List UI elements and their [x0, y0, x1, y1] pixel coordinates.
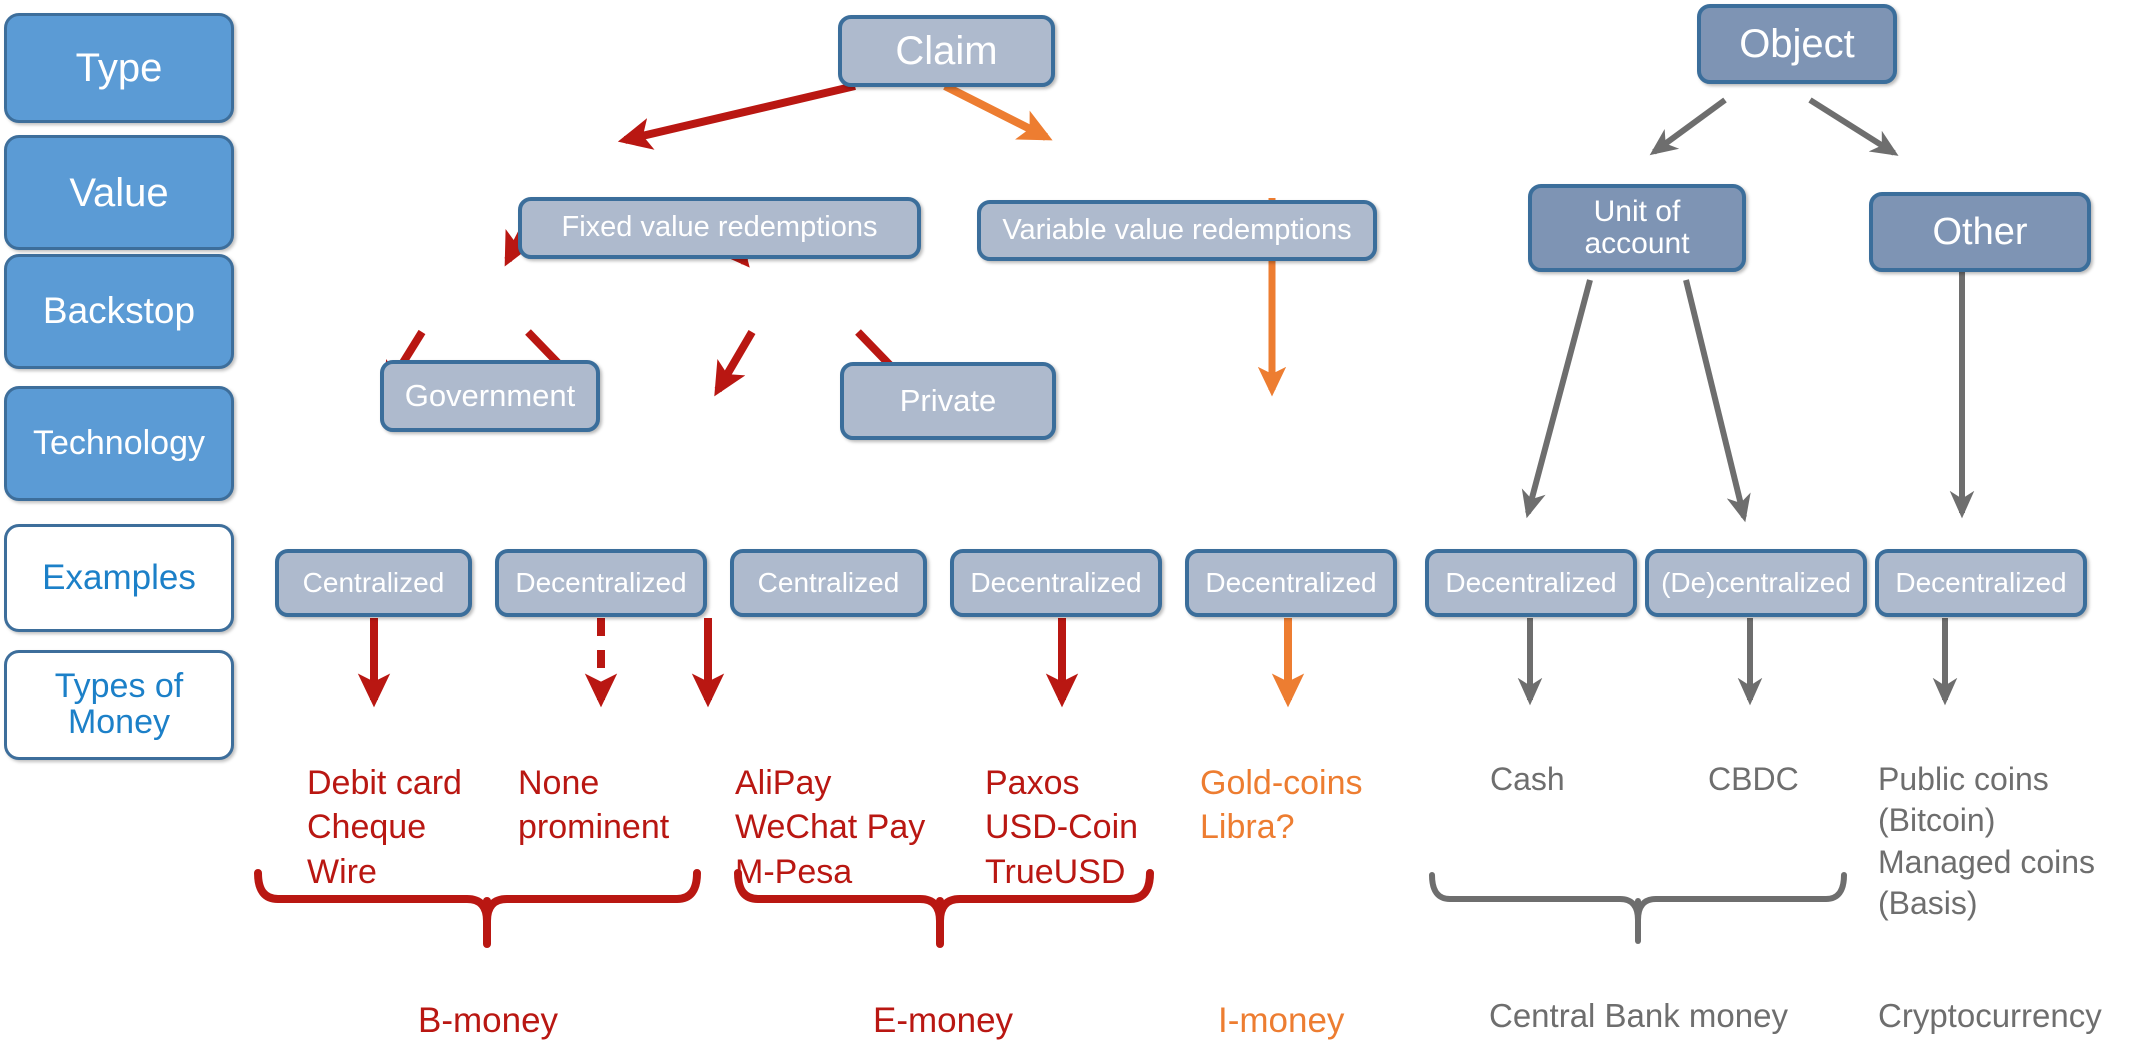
rail-item-type[interactable]: Type	[4, 13, 234, 123]
rail-item-label: Value	[69, 172, 168, 214]
rail-item-backstop[interactable]: Backstop	[4, 254, 234, 369]
node-tech-decentralized-2[interactable]: Decentralized	[950, 549, 1162, 617]
rail-item-technology[interactable]: Technology	[4, 386, 234, 501]
arrow-unit-to-decentralized	[1528, 280, 1590, 513]
arrow-unit-to-decentralized2	[1686, 280, 1744, 517]
rail-item-value[interactable]: Value	[4, 135, 234, 250]
node-tech-decentralized-5[interactable]: Decentralized	[1875, 549, 2087, 617]
example-text: Paxos USD-Coin TrueUSD	[985, 764, 1138, 890]
money-type-label: E-money	[873, 1001, 1013, 1040]
node-label: Government	[405, 379, 576, 412]
node-label: Decentralized	[1205, 568, 1376, 598]
node-tech-centralized-1[interactable]: Centralized	[275, 549, 472, 617]
rail-item-types-of-money[interactable]: Types of Money	[4, 650, 234, 760]
example-text: Public coins (Bitcoin) Managed coins (Ba…	[1878, 761, 2095, 922]
brace-central-bank-money	[1432, 875, 1844, 941]
example-cbdc: CBDC	[1708, 717, 1799, 800]
arrow-claim-to-variable	[945, 86, 1046, 137]
example-text: Cash	[1490, 761, 1565, 797]
example-e-money-centralized: AliPay WeChat Pay M-Pesa	[735, 717, 925, 894]
money-type-e-money: E-money	[873, 952, 1013, 1043]
node-tech-decentralized-4[interactable]: Decentralized	[1425, 549, 1637, 617]
money-type-i-money: I-money	[1218, 952, 1344, 1043]
money-tree-diagram: Type Value Backstop Technology Examples …	[0, 0, 2145, 1033]
money-type-central-bank-money: Central Bank money	[1489, 952, 1788, 1038]
node-label: Decentralized	[970, 568, 1141, 598]
example-text: CBDC	[1708, 761, 1799, 797]
node-label: (De)centralized	[1661, 568, 1851, 598]
node-label: Object	[1739, 23, 1855, 66]
money-type-label: Cryptocurrency	[1878, 997, 2102, 1034]
arrow-private-to-centralized	[718, 332, 752, 390]
node-label: Decentralized	[515, 568, 686, 598]
node-variable-value-redemptions[interactable]: Variable value redemptions	[977, 200, 1377, 261]
node-fixed-value-redemptions[interactable]: Fixed value redemptions	[518, 197, 921, 259]
money-type-b-money: B-money	[418, 952, 558, 1043]
node-object[interactable]: Object	[1697, 4, 1897, 84]
money-type-label: I-money	[1218, 1001, 1344, 1040]
node-unit-of-account[interactable]: Unit of account	[1528, 184, 1746, 272]
rail-item-label: Type	[76, 47, 163, 89]
node-label: Centralized	[758, 568, 900, 598]
node-tech-decentralized-3[interactable]: Decentralized	[1185, 549, 1397, 617]
rail-item-label: Backstop	[43, 292, 195, 331]
node-claim[interactable]: Claim	[838, 15, 1055, 87]
node-government[interactable]: Government	[380, 360, 600, 432]
money-type-label: Central Bank money	[1489, 997, 1788, 1034]
node-label: Claim	[895, 30, 997, 73]
node-label: Private	[900, 384, 996, 417]
example-text: AliPay WeChat Pay M-Pesa	[735, 764, 925, 890]
node-label: Other	[1932, 212, 2027, 253]
rail-item-label: Examples	[42, 560, 196, 597]
money-type-label: B-money	[418, 1001, 558, 1040]
arrow-claim-to-fixed	[625, 86, 855, 140]
example-e-money-decentralized: Paxos USD-Coin TrueUSD	[985, 717, 1138, 894]
node-tech-centralized-2[interactable]: Centralized	[730, 549, 927, 617]
node-other[interactable]: Other	[1869, 192, 2091, 272]
node-private[interactable]: Private	[840, 362, 1056, 440]
example-i-money: Gold-coins Libra?	[1200, 717, 1363, 850]
node-tech-decentralized-1[interactable]: Decentralized	[495, 549, 707, 617]
example-b-money-centralized: Debit card Cheque Wire	[307, 717, 462, 894]
example-cash: Cash	[1490, 717, 1565, 800]
example-text: Debit card Cheque Wire	[307, 764, 462, 890]
money-type-cryptocurrency: Cryptocurrency	[1878, 952, 2102, 1038]
node-label: Unit of account	[1584, 196, 1689, 260]
node-label: Variable value redemptions	[1002, 215, 1351, 246]
rail-item-examples[interactable]: Examples	[4, 524, 234, 632]
rail-item-label: Technology	[33, 426, 205, 462]
node-label: Fixed value redemptions	[562, 212, 878, 243]
arrow-object-to-unit	[1654, 100, 1725, 152]
node-label: Decentralized	[1445, 568, 1616, 598]
example-cryptocurrency: Public coins (Bitcoin) Managed coins (Ba…	[1878, 717, 2095, 925]
node-tech-de-centralized[interactable]: (De)centralized	[1645, 549, 1867, 617]
node-label: Decentralized	[1895, 568, 2066, 598]
example-text: None prominent	[518, 764, 669, 846]
node-label: Centralized	[303, 568, 445, 598]
rail-item-label: Types of Money	[55, 669, 184, 740]
example-b-money-decentralized: None prominent	[518, 717, 669, 850]
arrow-object-to-other	[1810, 100, 1894, 153]
example-text: Gold-coins Libra?	[1200, 764, 1363, 846]
